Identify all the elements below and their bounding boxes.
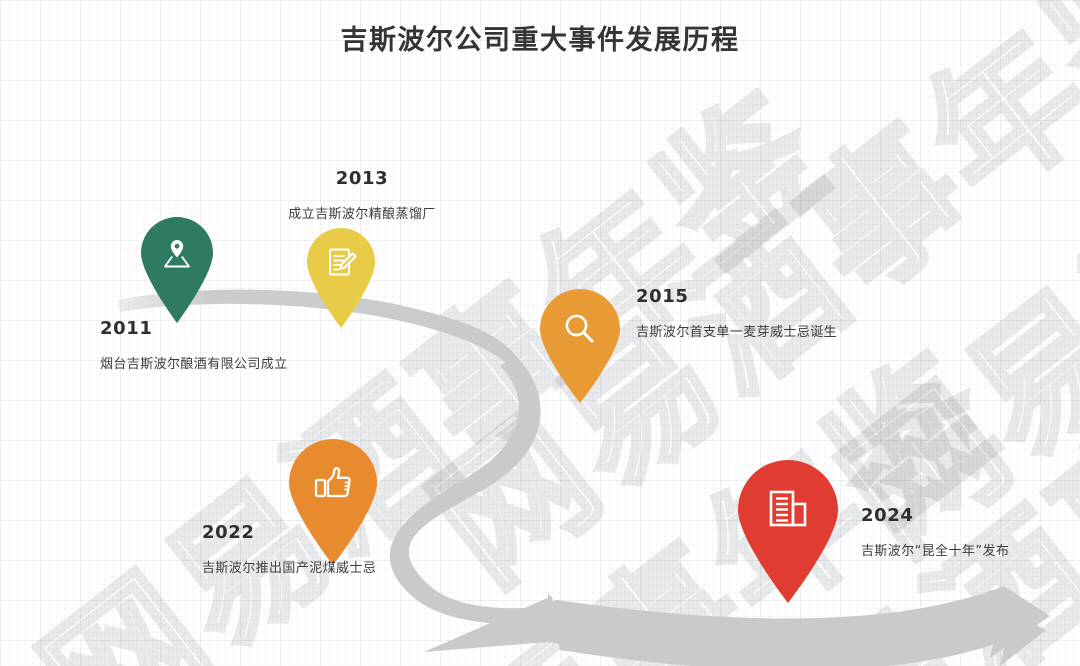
milestone-year: 2015 — [636, 286, 837, 307]
milestone-year: 2013 — [242, 168, 482, 189]
milestone-pin-2015[interactable] — [536, 285, 624, 403]
milestone-label-2024: 2024 吉斯波尔“昆全十年”发布 — [861, 505, 1009, 559]
milestone-description: 吉斯波尔推出国产泥煤威士忌 — [202, 557, 376, 576]
milestone-label-2015: 2015 吉斯波尔首支单一麦芽威士忌诞生 — [636, 286, 837, 340]
milestone-description: 吉斯波尔首支单一麦芽威士忌诞生 — [636, 321, 837, 340]
milestone-year: 2024 — [861, 505, 1009, 526]
page-title: 吉斯波尔公司重大事件发展历程 — [0, 18, 1080, 57]
pin-shape — [303, 224, 379, 328]
milestone-pin-2013[interactable] — [303, 224, 379, 328]
pin-shape — [733, 455, 843, 603]
pin-shape — [536, 285, 624, 403]
milestone-year: 2011 — [100, 318, 288, 339]
milestone-description: 烟台吉斯波尔酿酒有限公司成立 — [100, 353, 288, 372]
milestone-label-2011: 2011 烟台吉斯波尔酿酒有限公司成立 — [100, 318, 288, 372]
milestone-pin-2024[interactable] — [733, 455, 843, 603]
milestone-pin-2011[interactable] — [137, 213, 217, 323]
milestone-label-2013: 2013 成立吉斯波尔精酿蒸馏厂 — [242, 168, 482, 222]
milestone-label-2022: 2022 吉斯波尔推出国产泥煤威士忌 — [202, 522, 376, 576]
timeline-infographic: 网易酒事年鉴 网易酒事年鉴 网易酒事年鉴 网易酒事年鉴 网易酒事年鉴 — [0, 0, 1080, 666]
milestone-description: 吉斯波尔“昆全十年”发布 — [861, 540, 1009, 559]
milestone-description: 成立吉斯波尔精酿蒸馏厂 — [242, 203, 482, 222]
milestone-year: 2022 — [202, 522, 376, 543]
arrow-bottom-band — [424, 596, 1046, 666]
watermark-text: 网易酒事年鉴 — [632, 165, 1080, 666]
pin-shape — [137, 213, 217, 323]
arrow-s-curve — [390, 356, 560, 636]
